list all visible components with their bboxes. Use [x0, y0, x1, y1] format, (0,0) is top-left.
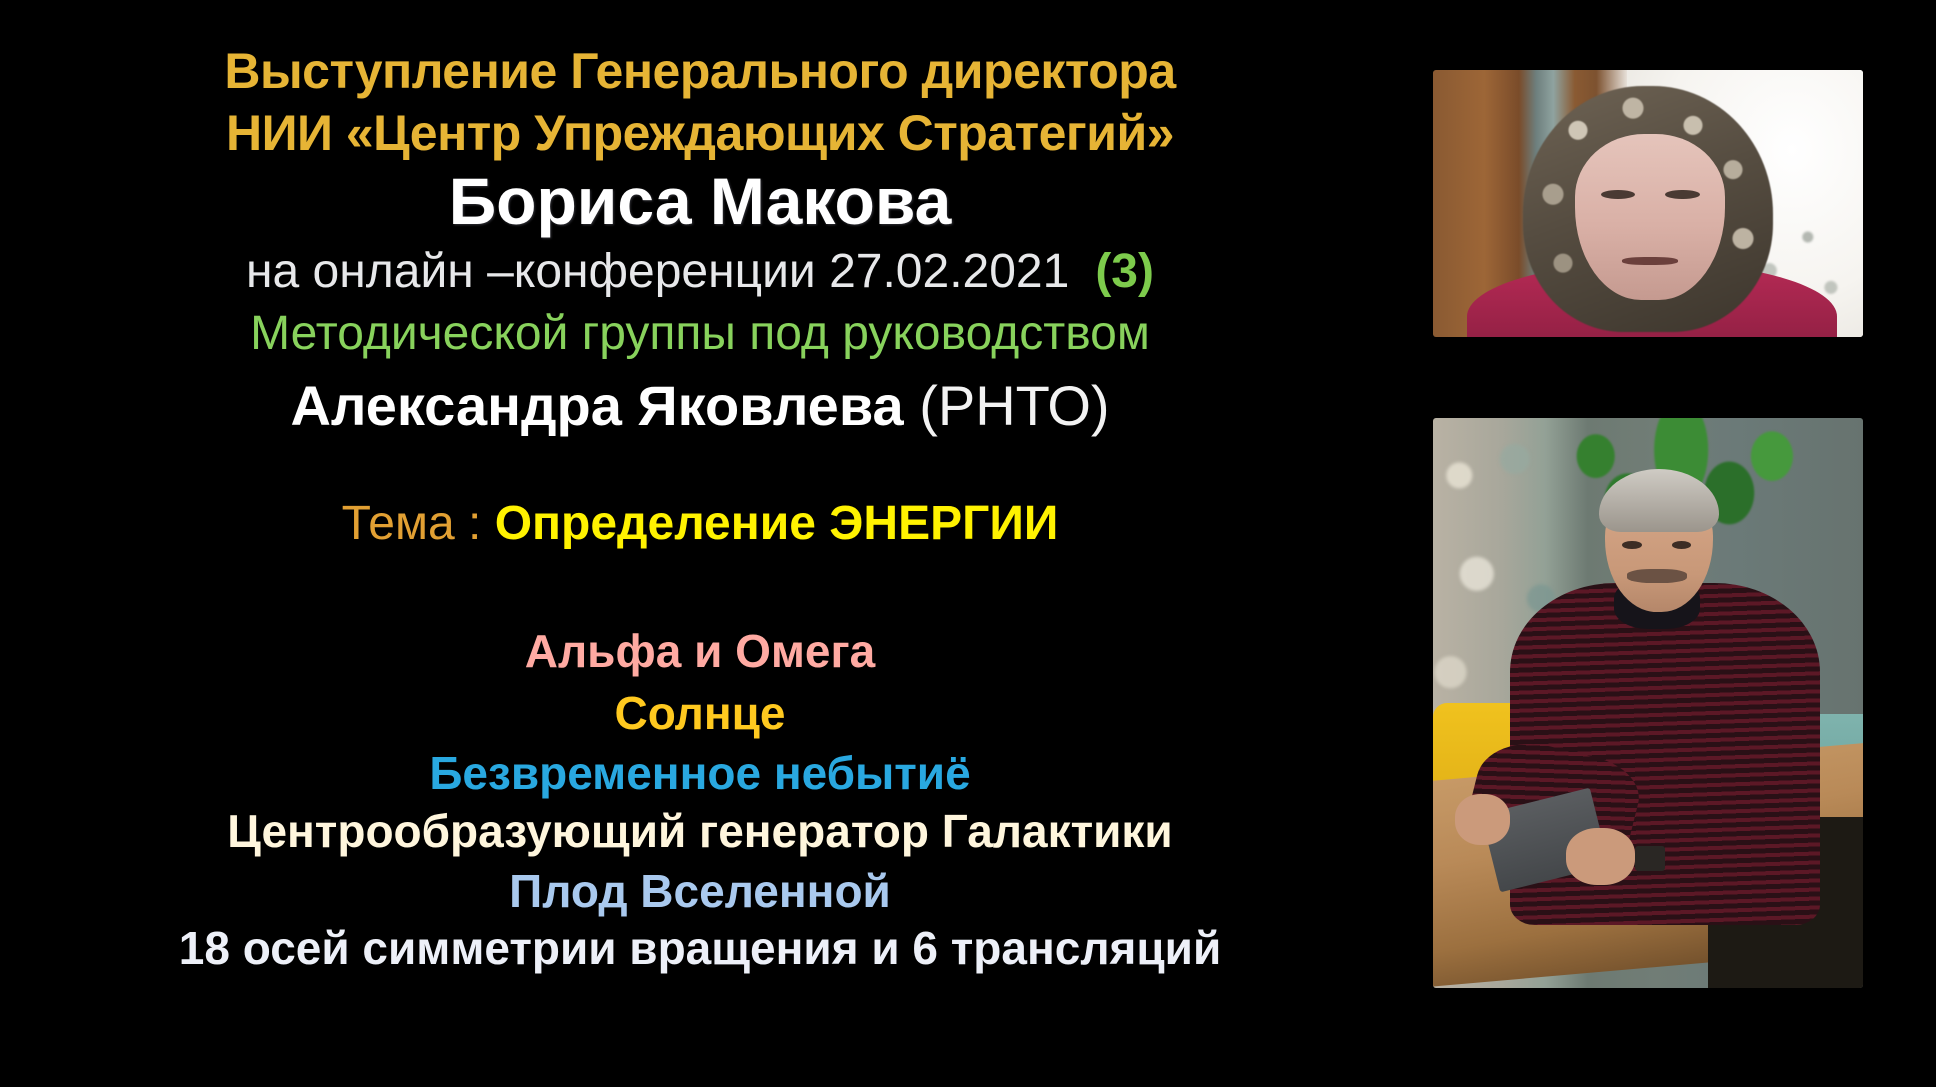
concept-item: Безвременное небытиё: [0, 750, 1400, 796]
participant-mouth: [1622, 257, 1678, 265]
slide-title-line-2: НИИ «Центр Упреждающих Стратегий»: [0, 108, 1400, 158]
topic-value: Определение ЭНЕРГИИ: [495, 497, 1059, 550]
participant-hand-right: [1566, 828, 1635, 885]
participant-hand-left: [1455, 794, 1511, 845]
participant-video-bottom[interactable]: [1433, 418, 1863, 988]
conference-index: (3): [1095, 245, 1154, 298]
participant-face: [1575, 134, 1726, 300]
slide-text-column: Выступление Генерального директора НИИ «…: [0, 0, 1400, 1087]
topic-label: Тема :: [342, 497, 495, 550]
participant-eye-left: [1622, 541, 1641, 549]
speaker-name: Бориса Макова: [0, 168, 1400, 234]
conference-line: на онлайн –конференции 27.02.2021(3): [0, 248, 1400, 296]
method-group-line: Методической группы под руководством: [0, 310, 1400, 358]
participant-moustache: [1627, 569, 1687, 583]
slide-title-line-1: Выступление Генерального директора: [0, 46, 1400, 96]
topic-line: Тема : Определение ЭНЕРГИИ: [0, 500, 1400, 548]
presentation-slide: Выступление Генерального директора НИИ «…: [0, 0, 1936, 1087]
concept-item: Центрообразующий генератор Галактики: [0, 808, 1400, 854]
leader-line: Александра Яковлева (РНТО): [0, 378, 1400, 434]
wristwatch: [1635, 846, 1665, 872]
leader-name: Александра Яковлева: [290, 374, 903, 437]
leader-organization: (РНТО): [904, 374, 1110, 437]
participant-video-top[interactable]: [1433, 70, 1863, 337]
concept-item: Солнце: [0, 690, 1400, 736]
concept-item: Плод Вселенной: [0, 868, 1400, 914]
participant-eye-right: [1672, 541, 1691, 549]
concept-item: 18 осей симметрии вращения и 6 трансляци…: [0, 925, 1400, 971]
concept-item: Альфа и Омега: [0, 628, 1400, 674]
conference-prefix: на онлайн –конференции 27.02.2021: [246, 245, 1069, 298]
